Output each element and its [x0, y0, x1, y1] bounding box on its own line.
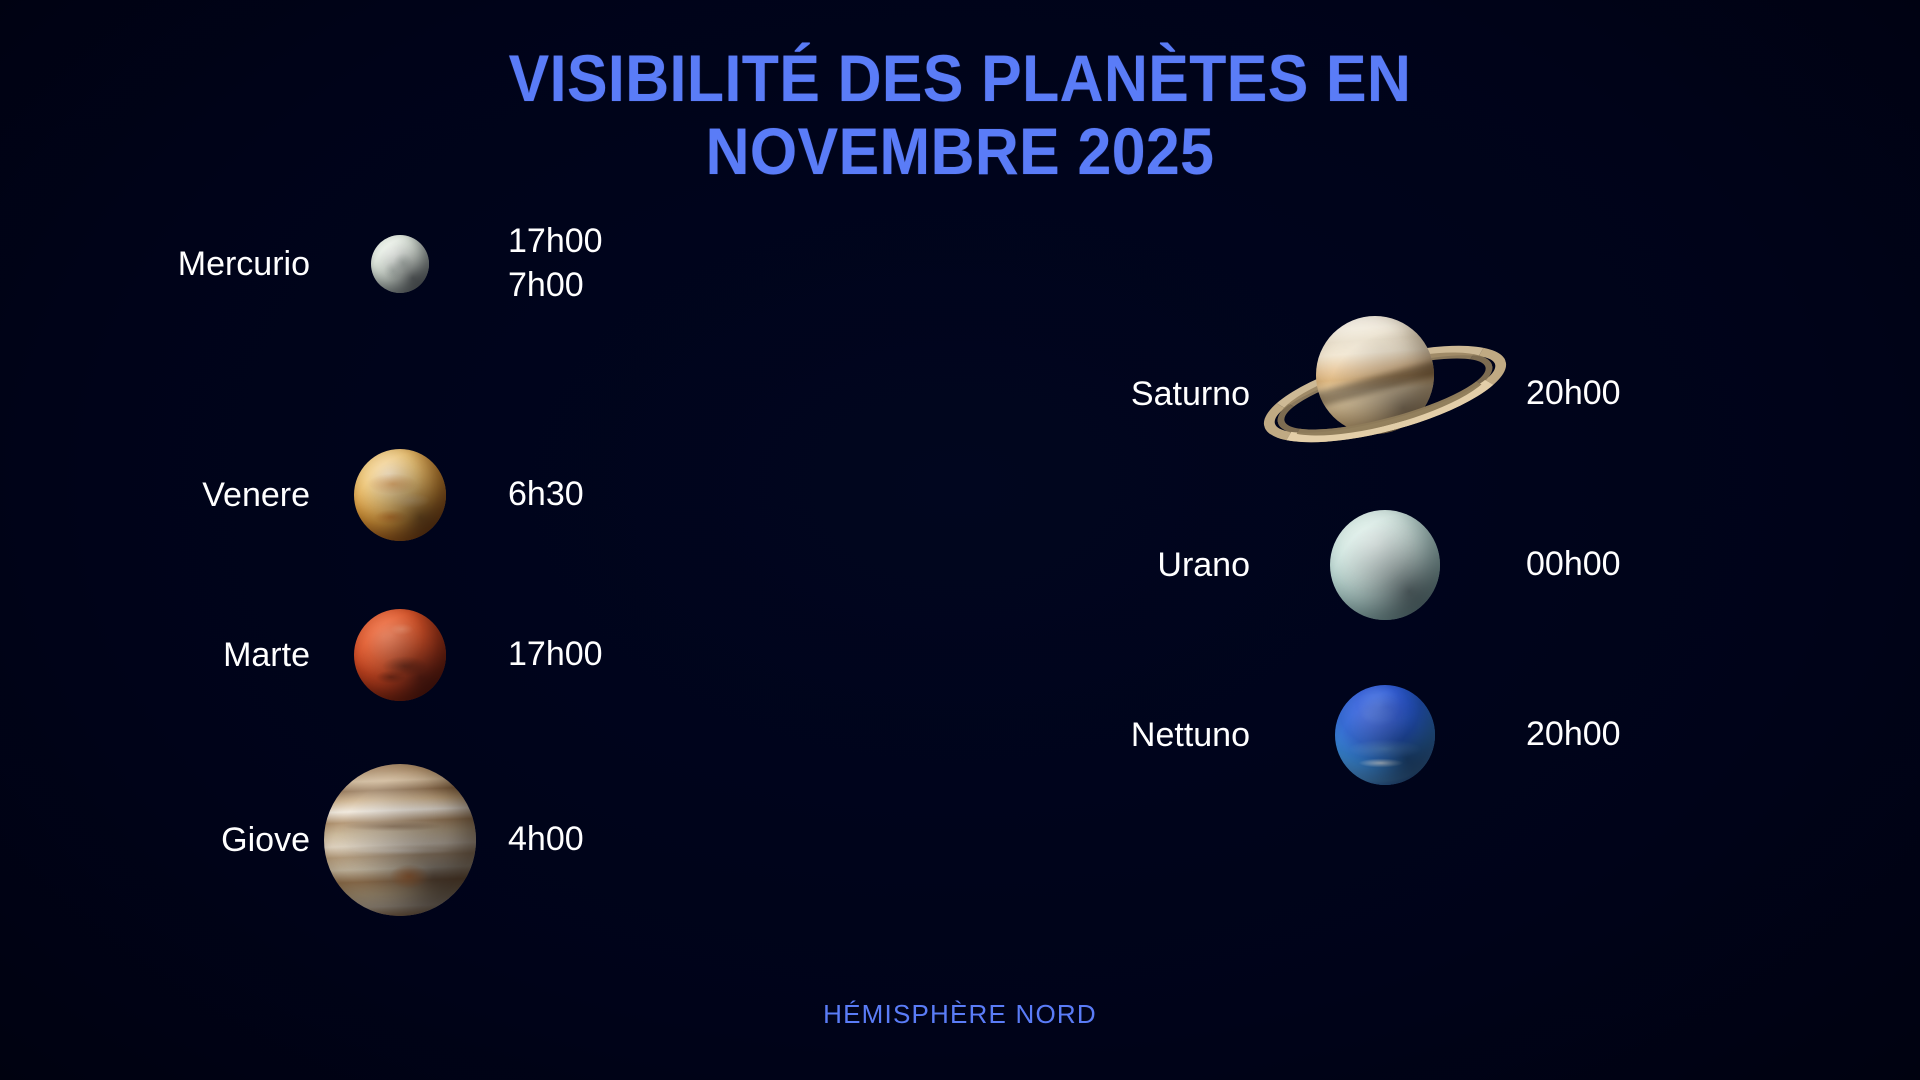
planet-row-venere: Venere 6h30 [140, 445, 740, 545]
planet-label-marte: Marte [140, 636, 310, 675]
planet-time-value: 4h00 [508, 818, 584, 862]
uranus-planet-icon [1330, 510, 1440, 620]
venus-planet-icon [354, 449, 446, 541]
planet-time-value: 20h00 [1526, 372, 1621, 416]
mars-planet-icon [354, 609, 446, 701]
planet-time-value: 7h00 [508, 264, 603, 308]
planet-image-slot-giove [310, 764, 490, 916]
planet-row-nettuno: Nettuno 20h00 [1100, 675, 1820, 795]
planet-time-value: 17h00 [508, 633, 603, 677]
saturn-planet-icon [1260, 304, 1510, 484]
planet-time-urano: 00h00 [1526, 543, 1621, 587]
title-line-2: NOVEMBRE 2025 [77, 119, 1843, 184]
planet-time-mercurio: 17h00 7h00 [508, 220, 603, 307]
planet-row-marte: Marte 17h00 [140, 605, 740, 705]
jupiter-planet-icon [324, 764, 476, 916]
planet-time-value: 20h00 [1526, 713, 1621, 757]
planet-row-saturno: Saturno 20h00 [1100, 304, 1820, 484]
planet-label-nettuno: Nettuno [1100, 716, 1250, 755]
planet-label-giove: Giove [140, 821, 310, 860]
planet-time-saturno: 20h00 [1526, 372, 1621, 416]
page-title: VISIBILITÉ DES PLANÈTES EN NOVEMBRE 2025 [0, 46, 1920, 183]
planet-time-giove: 4h00 [508, 818, 584, 862]
planet-row-giove: Giove 4h00 [140, 760, 760, 920]
planet-image-slot-venere [310, 449, 490, 541]
title-line-1: VISIBILITÉ DES PLANÈTES EN [77, 46, 1843, 111]
planet-label-urano: Urano [1100, 546, 1250, 585]
planet-label-mercurio: Mercurio [140, 245, 310, 284]
planet-image-slot-saturno [1250, 304, 1520, 484]
planet-image-slot-marte [310, 609, 490, 701]
planet-image-slot-urano [1250, 510, 1520, 620]
planet-time-value: 00h00 [1526, 543, 1621, 587]
neptune-planet-icon [1335, 685, 1435, 785]
planet-time-venere: 6h30 [508, 473, 584, 517]
planet-time-nettuno: 20h00 [1526, 713, 1621, 757]
infographic-canvas: VISIBILITÉ DES PLANÈTES EN NOVEMBRE 2025… [0, 0, 1920, 1080]
planet-row-urano: Urano 00h00 [1100, 505, 1820, 625]
planet-time-value: 17h00 [508, 220, 603, 264]
hemisphere-caption: HÉMISPHÈRE NORD [0, 999, 1920, 1030]
planet-image-slot-nettuno [1250, 685, 1520, 785]
planet-time-value: 6h30 [508, 473, 584, 517]
mercury-planet-icon [371, 235, 429, 293]
planet-image-slot-mercurio [310, 235, 490, 293]
planet-label-saturno: Saturno [1100, 375, 1250, 414]
planet-time-marte: 17h00 [508, 633, 603, 677]
planet-row-mercurio: Mercurio 17h00 7h00 [140, 222, 740, 306]
planet-label-venere: Venere [140, 476, 310, 515]
